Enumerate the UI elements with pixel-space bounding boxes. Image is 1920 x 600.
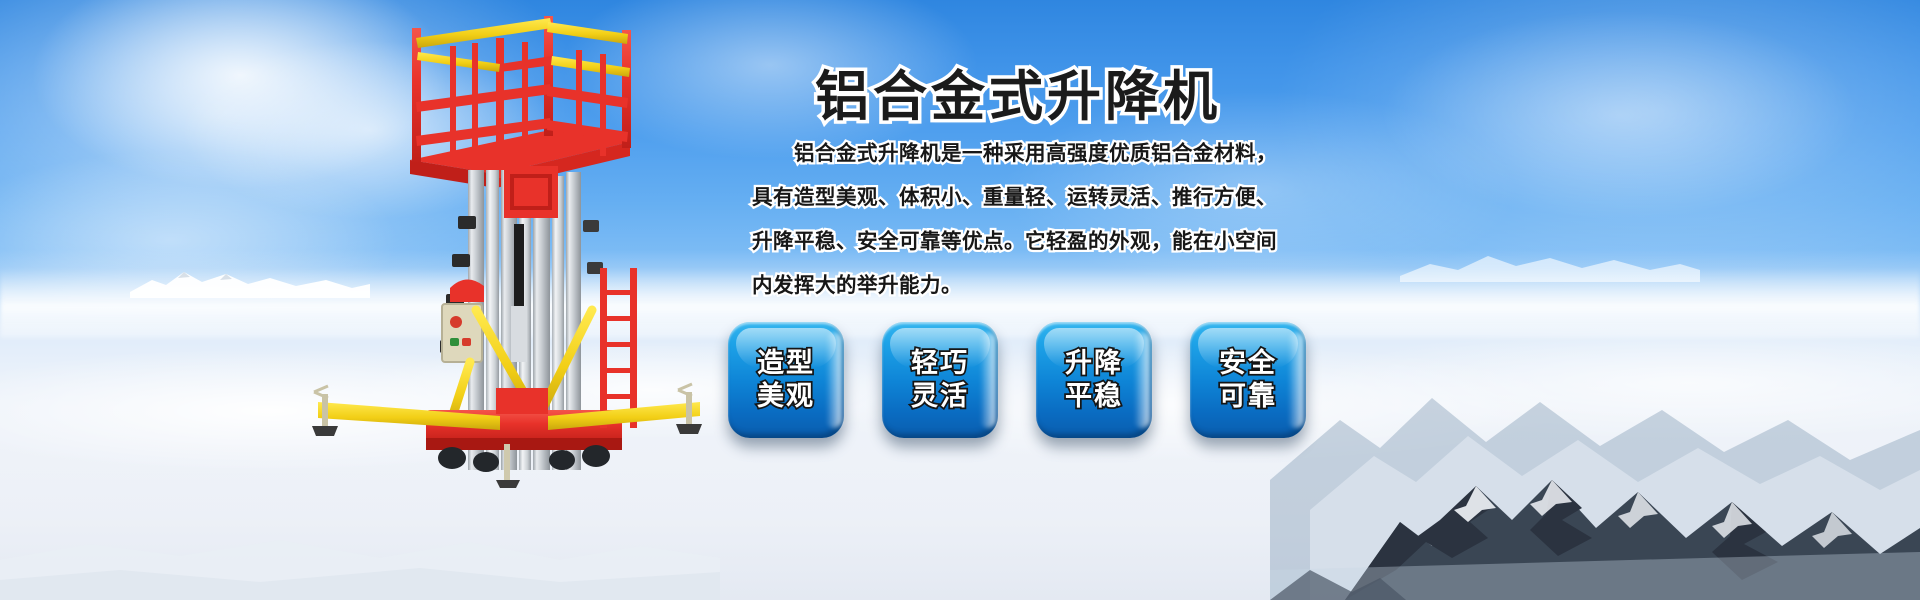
description-line-4: 内发挥大的举升能力。 [752, 264, 1272, 308]
product-banner: 铝合金式升降机 铝合金式升降机是一种采用高强度优质铝合金材料， 具有造型美观、体… [0, 0, 1920, 600]
lift-platform-cage [410, 16, 631, 188]
product-description: 铝合金式升降机是一种采用高强度优质铝合金材料， 具有造型美观、体积小、重量轻、运… [752, 132, 1272, 308]
feature-badge-label: 造型 美观 [757, 347, 815, 413]
feature-badge-line-2: 美观 [757, 381, 815, 411]
feature-badge-line-1: 造型 [757, 348, 815, 378]
feature-badge-label: 安全 可靠 [1219, 347, 1277, 413]
feature-badge-label: 轻巧 灵活 [911, 347, 969, 413]
page-title: 铝合金式升降机 [815, 52, 1221, 131]
feature-badge-label: 升降 平稳 [1065, 347, 1123, 413]
feature-badge-line-2: 平稳 [1065, 381, 1123, 411]
feature-badge-smooth-lift[interactable]: 升降 平稳 [1036, 322, 1152, 438]
feature-badge-line-1: 安全 [1219, 348, 1277, 378]
feature-badge-list: 造型 美观 轻巧 灵活 升降 平稳 安全 可靠 [728, 322, 1306, 438]
feature-badge-line-2: 灵活 [911, 381, 969, 411]
feature-badge-safe-reliable[interactable]: 安全 可靠 [1190, 322, 1306, 438]
feature-badge-line-1: 轻巧 [911, 348, 969, 378]
feature-badge-line-1: 升降 [1065, 348, 1123, 378]
feature-badge-lightweight[interactable]: 轻巧 灵活 [882, 322, 998, 438]
aluminium-lift-product-image [300, 10, 720, 490]
description-line-1: 铝合金式升降机是一种采用高强度优质铝合金材料， [752, 132, 1272, 176]
description-line-2: 具有造型美观、体积小、重量轻、运转灵活、推行方便、 [752, 176, 1272, 220]
feature-badge-design[interactable]: 造型 美观 [728, 322, 844, 438]
description-line-3: 升降平稳、安全可靠等优点。它轻盈的外观，能在小空间 [752, 220, 1272, 264]
feature-badge-line-2: 可靠 [1219, 381, 1277, 411]
